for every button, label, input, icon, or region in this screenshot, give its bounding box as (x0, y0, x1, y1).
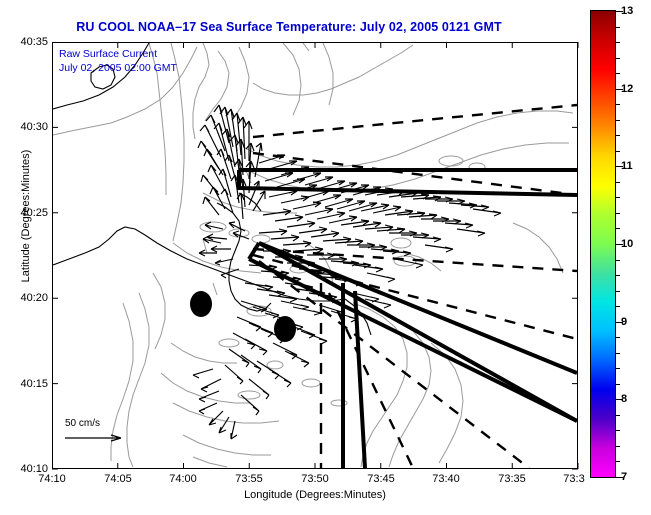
y-tick-label: 40:35 (4, 36, 48, 48)
y-tick-label: 40:15 (4, 378, 48, 390)
colorbar-minor-tick (616, 415, 620, 416)
colorbar-minor-tick (616, 197, 620, 198)
x-tick-label: 73:40 (432, 473, 460, 485)
colorbar-tick-label: 10 (621, 238, 633, 250)
colorbar-tick-label: 12 (621, 83, 633, 95)
colorbar-minor-tick (616, 104, 620, 105)
colorbar-minor-tick (616, 291, 620, 292)
colorbar-minor-tick (616, 430, 620, 431)
colorbar-minor-tick (616, 275, 620, 276)
x-tick-label: 73:3 (563, 473, 584, 485)
colorbar-tick-label: 9 (621, 316, 627, 328)
colorbar-minor-tick (616, 27, 620, 28)
colorbar-tick-label: 13 (621, 5, 633, 17)
x-axis-label: Longitude (Degrees:Minutes) (52, 489, 578, 501)
y-axis-label: Latitude (Degrees:Minutes) (20, 86, 32, 346)
colorbar-tick-label: 7 (621, 471, 627, 483)
colorbar-minor-tick (616, 73, 620, 74)
colorbar-minor-tick (616, 446, 620, 447)
x-tick-label: 73:35 (498, 473, 526, 485)
colorbar-minor-tick (616, 42, 620, 43)
colorbar-minor-tick (616, 228, 620, 229)
colorbar-minor-tick (616, 213, 620, 214)
figure: RU COOL NOAA–17 Sea Surface Temperature:… (0, 0, 651, 515)
colorbar-minor-tick (616, 368, 620, 369)
colorbar-tick-label: 8 (621, 393, 627, 405)
colorbar-minor-tick (616, 260, 620, 261)
colorbar-tick-label: 11 (621, 160, 633, 172)
x-axis-ticks: 74:10 74:05 74:00 73:55 73:50 73:45 73:4… (0, 473, 651, 489)
colorbar-minor-tick (616, 337, 620, 338)
colorbar-minor-tick (616, 120, 620, 121)
axis-tick-marks (52, 42, 579, 470)
colorbar-minor-tick (616, 151, 620, 152)
colorbar-minor-tick (616, 353, 620, 354)
colorbar-minor-tick (616, 461, 620, 462)
colorbar-minor-tick (616, 135, 620, 136)
colorbar-minor-tick (616, 58, 620, 59)
colorbar-ticks: 13121110987 (590, 10, 650, 478)
x-tick-label: 73:45 (367, 473, 395, 485)
x-tick-label: 74:00 (169, 473, 197, 485)
colorbar-minor-tick (616, 306, 620, 307)
x-tick-label: 74:05 (104, 473, 132, 485)
figure-title: RU COOL NOAA–17 Sea Surface Temperature:… (0, 20, 578, 34)
colorbar-minor-tick (616, 182, 620, 183)
x-tick-label: 73:50 (301, 473, 329, 485)
x-tick-label: 73:55 (235, 473, 263, 485)
colorbar-minor-tick (616, 384, 620, 385)
x-tick-label: 74:10 (38, 473, 66, 485)
